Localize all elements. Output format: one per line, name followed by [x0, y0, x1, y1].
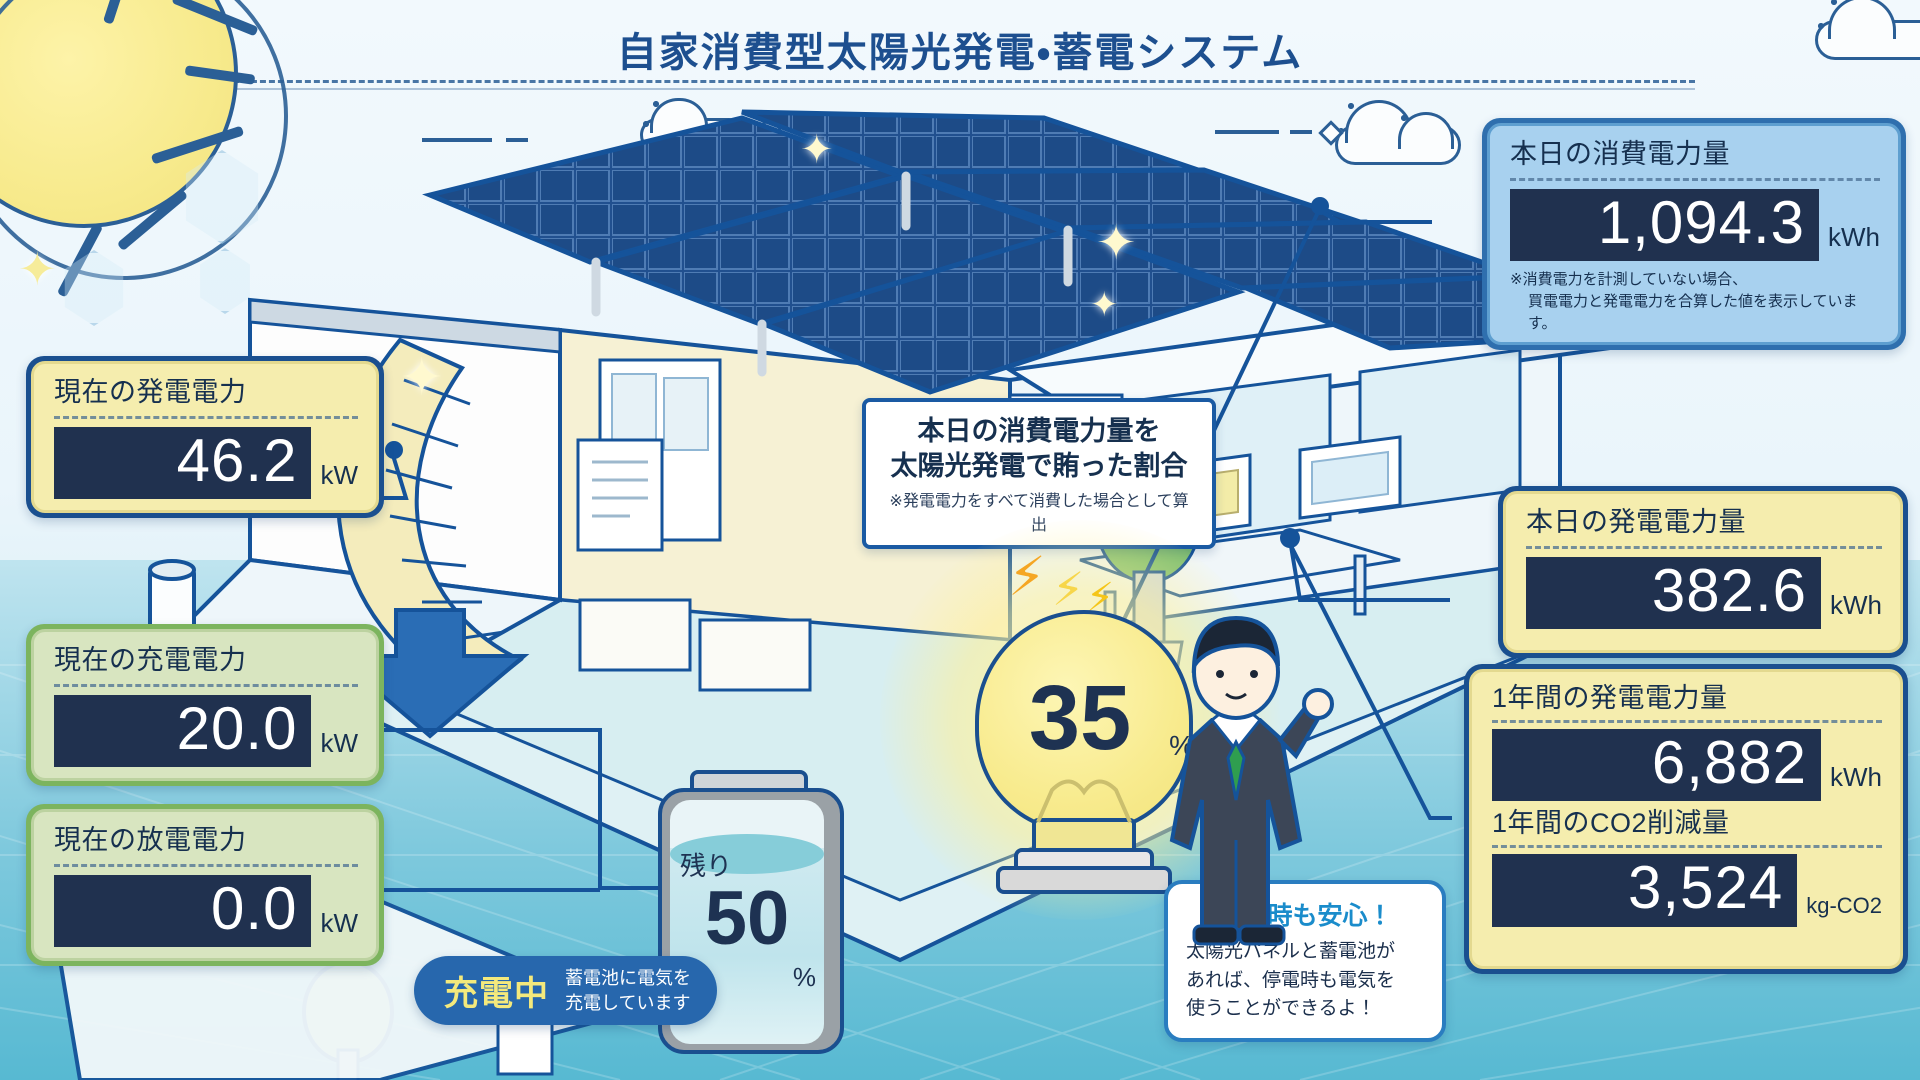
charging-status-pill[interactable]: 充電中 蓄電池に電気を 充電しています	[414, 956, 717, 1025]
card-title-year-generation: 1年間の発電電力量	[1492, 684, 1882, 714]
divider	[1510, 178, 1880, 181]
lightning-bolt-icon: ⚡	[1008, 550, 1046, 604]
value-readout: 382.6	[1526, 557, 1821, 630]
divider	[54, 864, 358, 867]
divider	[1492, 845, 1882, 848]
card-title: 現在の発電電力	[54, 378, 358, 408]
value-text: 382.6	[1652, 557, 1807, 624]
value-readout: 0.0	[54, 875, 311, 948]
card-today-consumption[interactable]: 本日の消費電力量 1,094.3 kWh ※消費電力を計測していない場合、 買電…	[1482, 118, 1906, 350]
divider	[1526, 546, 1882, 549]
value-text: 20.0	[177, 695, 298, 762]
value-text: 1,094.3	[1598, 189, 1805, 256]
person-illustration	[1150, 600, 1380, 960]
callout-line-2: 太陽光発電で賄った割合	[886, 449, 1192, 484]
unit-label: kWh	[1821, 590, 1882, 629]
card-current-discharge[interactable]: 現在の放電電力 0.0 kW	[26, 804, 384, 966]
value-readout-year-co2: 3,524	[1492, 854, 1797, 927]
unit-label: kWh	[1821, 762, 1882, 801]
card-title: 現在の放電電力	[54, 826, 358, 856]
card-note: ※消費電力を計測していない場合、 買電電力と発電電力を合算した値を表示しています…	[1510, 269, 1880, 334]
note-line-2: 買電電力と発電電力を合算した値を表示しています。	[1510, 291, 1880, 335]
illustration-canvas: ✦ ✦ ✦ ✦ ✦ 自家消費型太陽光発電・蓄電システム	[0, 0, 1920, 1080]
note-line-1: ※消費電力を計測していない場合、	[1510, 271, 1747, 288]
bubble-line-2: あれば、停電時も電気を	[1186, 970, 1395, 991]
card-title: 現在の充電電力	[54, 646, 358, 676]
value-text: 0.0	[211, 875, 297, 942]
battery-percent-value: 50	[705, 876, 790, 961]
unit-label: kWh	[1819, 222, 1880, 261]
bulb-filament	[1024, 770, 1144, 830]
bubble-line-3: 使うことができるよ！	[1186, 998, 1376, 1019]
divider	[54, 416, 358, 419]
solar-coverage-percent: 35 %	[1000, 672, 1160, 764]
value-readout-year-generation: 6,882	[1492, 729, 1821, 802]
unit-label: kW	[311, 460, 358, 499]
divider	[54, 684, 358, 687]
unit-label: kW	[311, 728, 358, 767]
value-readout: 46.2	[54, 427, 311, 500]
card-current-charge[interactable]: 現在の充電電力 20.0 kW	[26, 624, 384, 786]
unit-label: kg-CO2	[1797, 893, 1882, 927]
card-today-generation[interactable]: 本日の発電電力量 382.6 kWh	[1498, 486, 1908, 658]
value-text: 3,524	[1628, 854, 1783, 921]
charging-status-label: 充電中	[444, 966, 549, 1015]
value-text: 6,882	[1652, 729, 1807, 796]
battery-readout: 残り 50 %	[658, 846, 836, 955]
callout-line-1: 本日の消費電力量を	[886, 414, 1192, 449]
percent-value: 35	[1029, 667, 1131, 769]
bulb-base-plate	[996, 866, 1172, 894]
battery-percent-unit: %	[793, 962, 816, 993]
value-text: 46.2	[177, 427, 298, 494]
card-title: 本日の消費電力量	[1510, 140, 1880, 170]
card-current-generation[interactable]: 現在の発電電力 46.2 kW	[26, 356, 384, 518]
card-title: 本日の発電電力量	[1526, 508, 1882, 538]
card-yearly-stats[interactable]: 1年間の発電電力量 6,882 kWh 1年間のCO2削減量 3,524 kg-…	[1464, 664, 1908, 974]
value-readout: 1,094.3	[1510, 189, 1819, 262]
card-title-year-co2: 1年間のCO2削減量	[1492, 809, 1882, 839]
divider	[1492, 720, 1882, 723]
charging-desc-line-1: 蓄電池に電気を	[565, 968, 691, 988]
lightning-bolt-icon: ⚡	[1052, 566, 1084, 612]
charging-description: 蓄電池に電気を 充電しています	[565, 966, 691, 1015]
value-readout: 20.0	[54, 695, 311, 768]
page-title: 自家消費型太陽光発電・蓄電システム	[0, 20, 1920, 78]
unit-label: kW	[311, 908, 358, 947]
charging-desc-line-2: 充電しています	[565, 993, 690, 1013]
